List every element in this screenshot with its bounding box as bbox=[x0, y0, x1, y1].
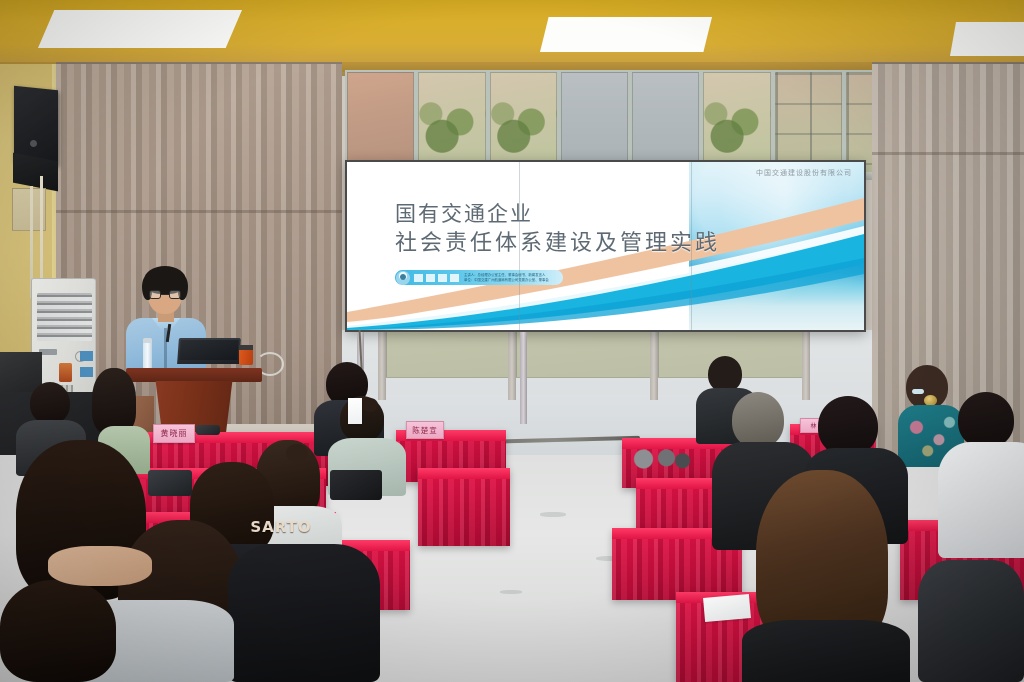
person-avatar-icon bbox=[396, 271, 410, 285]
podium-top bbox=[126, 368, 262, 382]
ceiling-light-left bbox=[38, 10, 242, 48]
screen-panel-seam bbox=[691, 162, 692, 330]
paper-handout bbox=[703, 594, 751, 622]
floor-mark bbox=[500, 590, 522, 594]
hair-bun bbox=[286, 444, 308, 462]
curtain-seam bbox=[56, 210, 342, 213]
ac-display bbox=[59, 363, 72, 382]
tshirt-print: SARTO bbox=[236, 520, 326, 536]
ac-badge bbox=[80, 351, 93, 361]
person-hair bbox=[92, 368, 136, 434]
laptop-screen bbox=[179, 340, 238, 360]
items-on-table bbox=[628, 448, 690, 470]
person-hair bbox=[0, 580, 116, 682]
person-head bbox=[958, 392, 1014, 448]
hair-clip-icon bbox=[912, 389, 924, 394]
slide-title-line2: 社会责任体系建设及管理实践 bbox=[395, 229, 720, 258]
ac-badge bbox=[80, 367, 93, 377]
conference-table bbox=[418, 468, 510, 546]
handbag bbox=[148, 470, 192, 496]
water-bottle-cap bbox=[143, 338, 152, 343]
person-head bbox=[732, 392, 784, 448]
ceiling-light-right bbox=[950, 22, 1024, 56]
glasses-icon bbox=[149, 290, 181, 299]
slide-speaker-bar: 主讲人：总经理办公室主任、董事会秘书、新闻发言人 单位：中国交建广州航道局有限公… bbox=[395, 270, 563, 285]
conference-room-photo: 中国交通建设股份有限公司 国有交通企业 社会责任体系建设及管理实践 主讲人：总经… bbox=[0, 0, 1024, 682]
orange-mug-lid bbox=[239, 345, 253, 350]
name-placard-chen: 陈楚宣 bbox=[406, 421, 444, 439]
ceiling-light-center bbox=[540, 17, 712, 52]
floor-mark bbox=[540, 512, 566, 517]
slide-speaker-line2: 单位：中国交建广州航道局有限公司党委办公室、董事会 bbox=[464, 278, 549, 282]
slide-bar-blocks bbox=[414, 274, 459, 282]
screen-support-pole bbox=[520, 332, 527, 424]
projection-screen[interactable]: 中国交通建设股份有限公司 国有交通企业 社会责任体系建设及管理实践 主讲人：总经… bbox=[345, 160, 866, 332]
name-placard-huang: 黄晓丽 bbox=[153, 424, 195, 443]
curtain-seam bbox=[872, 152, 1024, 155]
person-torso bbox=[228, 544, 380, 682]
handbag bbox=[330, 470, 382, 500]
desk-bag bbox=[196, 425, 220, 435]
slide-surface: 中国交通建设股份有限公司 国有交通企业 社会责任体系建设及管理实践 主讲人：总经… bbox=[347, 162, 864, 330]
person-torso bbox=[918, 560, 1024, 682]
slide-speaker-line1: 主讲人：总经理办公室主任、董事会秘书、新闻发言人 bbox=[464, 273, 549, 277]
person-head bbox=[30, 382, 70, 424]
slide-speaker-text: 主讲人：总经理办公室主任、董事会秘书、新闻发言人 单位：中国交建广州航道局有限公… bbox=[464, 273, 549, 282]
ac-vent-grille bbox=[37, 293, 92, 341]
paper-handout bbox=[348, 398, 362, 424]
speaker-driver-icon bbox=[30, 140, 37, 147]
hair-bun bbox=[362, 398, 378, 412]
slide-title-line1: 国有交通企业 bbox=[395, 202, 533, 226]
water-bottle bbox=[143, 342, 152, 370]
slide-company-logo: 中国交通建设股份有限公司 bbox=[756, 168, 852, 178]
person-torso bbox=[742, 620, 910, 682]
person-torso bbox=[938, 442, 1024, 558]
screen-panel-seam bbox=[519, 162, 520, 330]
laptop[interactable] bbox=[177, 338, 241, 364]
slide-title: 国有交通企业 社会责任体系建设及管理实践 bbox=[395, 200, 720, 258]
person-head bbox=[818, 396, 878, 456]
person-head bbox=[708, 356, 742, 392]
person-arm bbox=[48, 546, 152, 586]
